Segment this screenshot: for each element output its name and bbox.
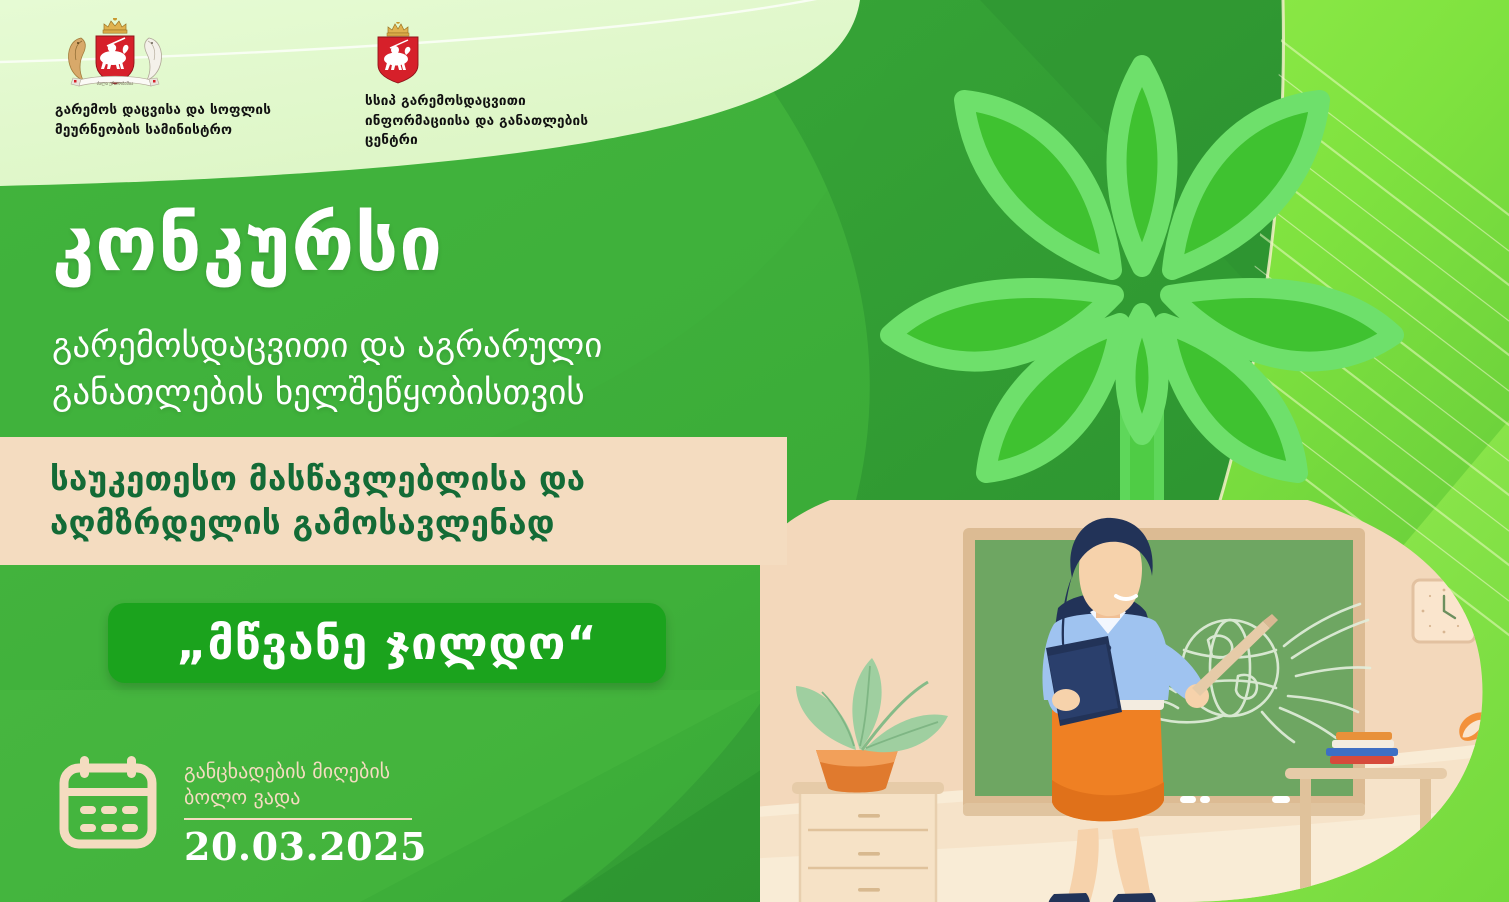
banner-line-1: საუკეთესო მასწავლებლისა და (50, 457, 787, 501)
classroom-teacher-illustration (760, 500, 1509, 902)
banner-line-2: აღმზრდელის გამოსავლენად (50, 501, 787, 545)
award-name-label: „მწვანე ჯილდო“ (176, 620, 597, 666)
deadline-block: განცხადების მიღების ბოლო ვადა 20.03.2025 (58, 752, 427, 869)
logo-ministry: ძალა ერთობაშია გარემოს დაცვისა და სოფლის… (55, 18, 305, 140)
logo-center: სსიპ გარემოსდაცვითი ინფორმაციისა და განა… (365, 18, 605, 151)
svg-text:ძალა ერთობაშია: ძალა ერთობაშია (97, 80, 135, 87)
georgia-shield-crown-icon (369, 22, 427, 84)
page-subtitle: გარემოსდაცვითი და აგრარული განათლების ხე… (52, 323, 602, 418)
georgia-coat-of-arms-full-icon: ძალა ერთობაშია (63, 18, 167, 92)
calendar-icon (58, 752, 158, 852)
header-logos: ძალა ერთობაშია გარემოს დაცვისა და სოფლის… (55, 18, 605, 151)
award-name-badge: „მწვანე ჯილდო“ (108, 603, 666, 683)
logo-center-label: სსიპ გარემოსდაცვითი ინფორმაციისა და განა… (365, 92, 605, 151)
logo-ministry-label: გარემოს დაცვისა და სოფლის მეურნეობის სამ… (55, 101, 305, 140)
poster-canvas: ძალა ერთობაშია გარემოს დაცვისა და სოფლის… (0, 0, 1509, 902)
page-title: კონკურსი (52, 206, 443, 282)
deadline-date: 20.03.2025 (184, 824, 427, 869)
deadline-divider (184, 818, 412, 820)
deadline-label: განცხადების მიღების ბოლო ვადა (184, 758, 427, 810)
highlight-banner: საუკეთესო მასწავლებლისა და აღმზრდელის გა… (0, 437, 787, 565)
